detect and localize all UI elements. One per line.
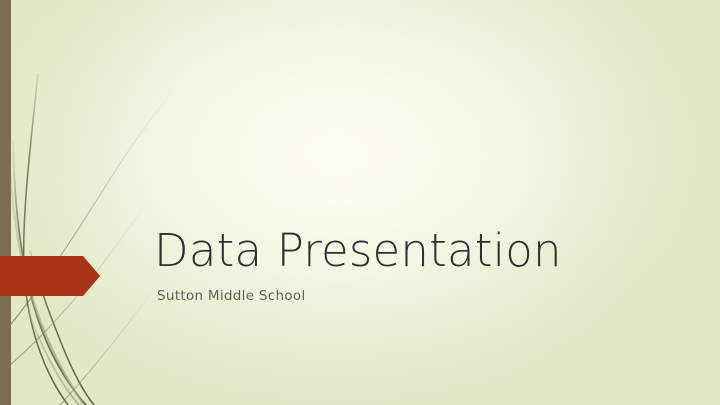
slide-subtitle: Sutton Middle School <box>157 287 694 305</box>
presentation-slide: Data Presentation Sutton Middle School <box>0 0 720 405</box>
left-vertical-bar <box>0 0 11 405</box>
title-block: Data Presentation Sutton Middle School <box>154 225 694 305</box>
slide-background-edge-shading <box>0 0 720 405</box>
slide-title: Data Presentation <box>154 225 694 277</box>
red-arrow-banner <box>0 256 100 296</box>
